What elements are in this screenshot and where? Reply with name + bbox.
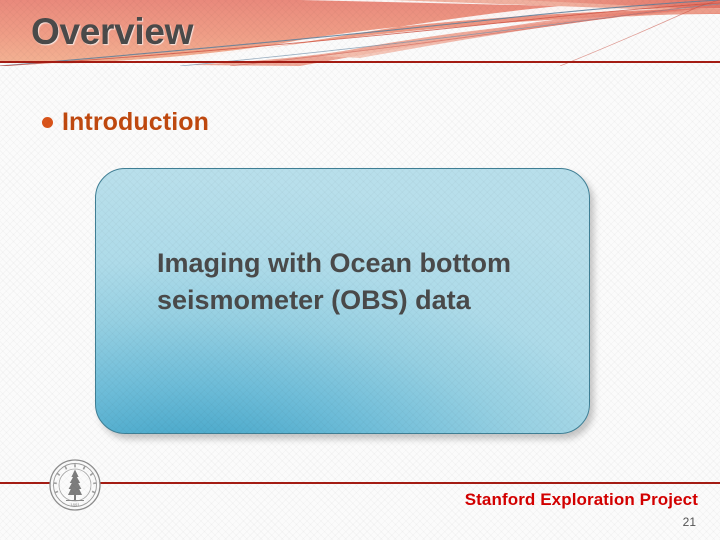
page-title: Overview — [31, 11, 193, 53]
footer-title: Stanford Exploration Project — [465, 490, 698, 510]
bullet-dot-icon — [42, 117, 53, 128]
callout-box-text: Imaging with Ocean bottom seismometer (O… — [157, 245, 557, 319]
bullet-item-label: Introduction — [62, 108, 209, 137]
footer-divider-rule — [0, 482, 720, 484]
header-divider-rule — [0, 61, 720, 63]
callout-box: Imaging with Ocean bottom seismometer (O… — [95, 168, 590, 434]
presentation-slide: Overview Introduction Imaging with Ocean… — [0, 0, 720, 540]
stanford-seal-icon: 1891 — [49, 459, 101, 511]
page-number: 21 — [683, 515, 696, 529]
bullet-list-item: Introduction — [42, 108, 209, 137]
svg-text:1891: 1891 — [70, 502, 80, 507]
